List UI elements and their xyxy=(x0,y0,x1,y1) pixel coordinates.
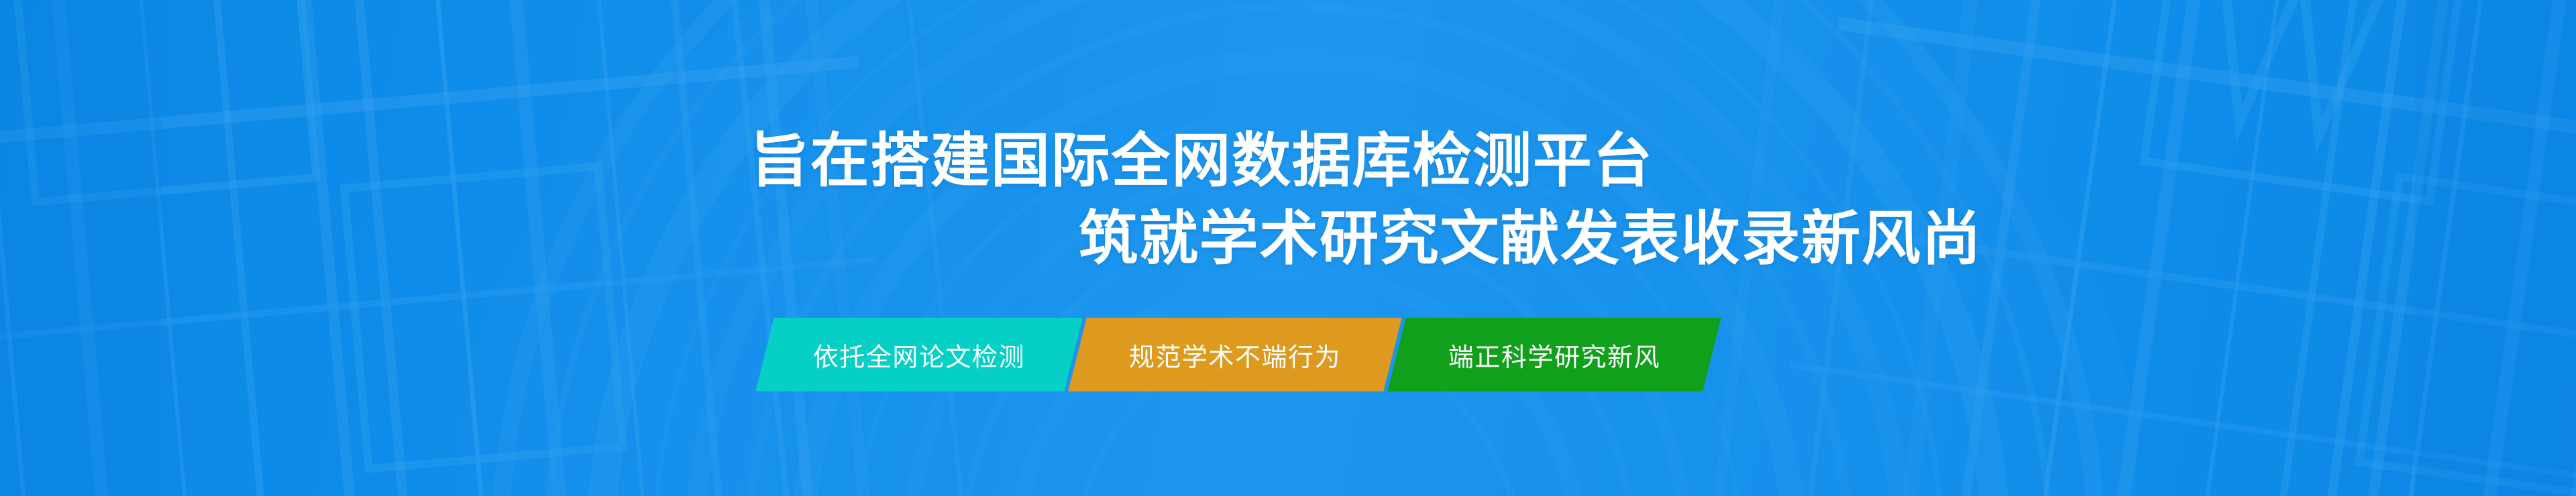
feature-tag-3[interactable]: 端正科学研究新风 xyxy=(1387,318,1721,391)
headline-group: 旨在搭建国际全网数据库检测平台 筑就学术研究文献发表收录新风尚 xyxy=(0,0,2576,496)
feature-tag-3-label: 端正科学研究新风 xyxy=(1448,336,1660,373)
headline-secondary: 筑就学术研究文献发表收录新风尚 xyxy=(1079,209,1982,268)
promo-banner: 旨在搭建国际全网数据库检测平台 筑就学术研究文献发表收录新风尚 依托全网论文检测… xyxy=(0,0,2576,496)
feature-tag-strip: 依托全网论文检测 规范学术不端行为 端正科学研究新风 xyxy=(765,318,1712,391)
feature-tag-1-label: 依托全网论文检测 xyxy=(813,336,1025,373)
feature-tag-1[interactable]: 依托全网论文检测 xyxy=(755,318,1082,391)
feature-tag-2[interactable]: 规范学术不端行为 xyxy=(1068,318,1401,391)
feature-tag-2-label: 规范学术不端行为 xyxy=(1129,336,1341,373)
headline-primary: 旨在搭建国际全网数据库检测平台 xyxy=(750,131,1653,190)
